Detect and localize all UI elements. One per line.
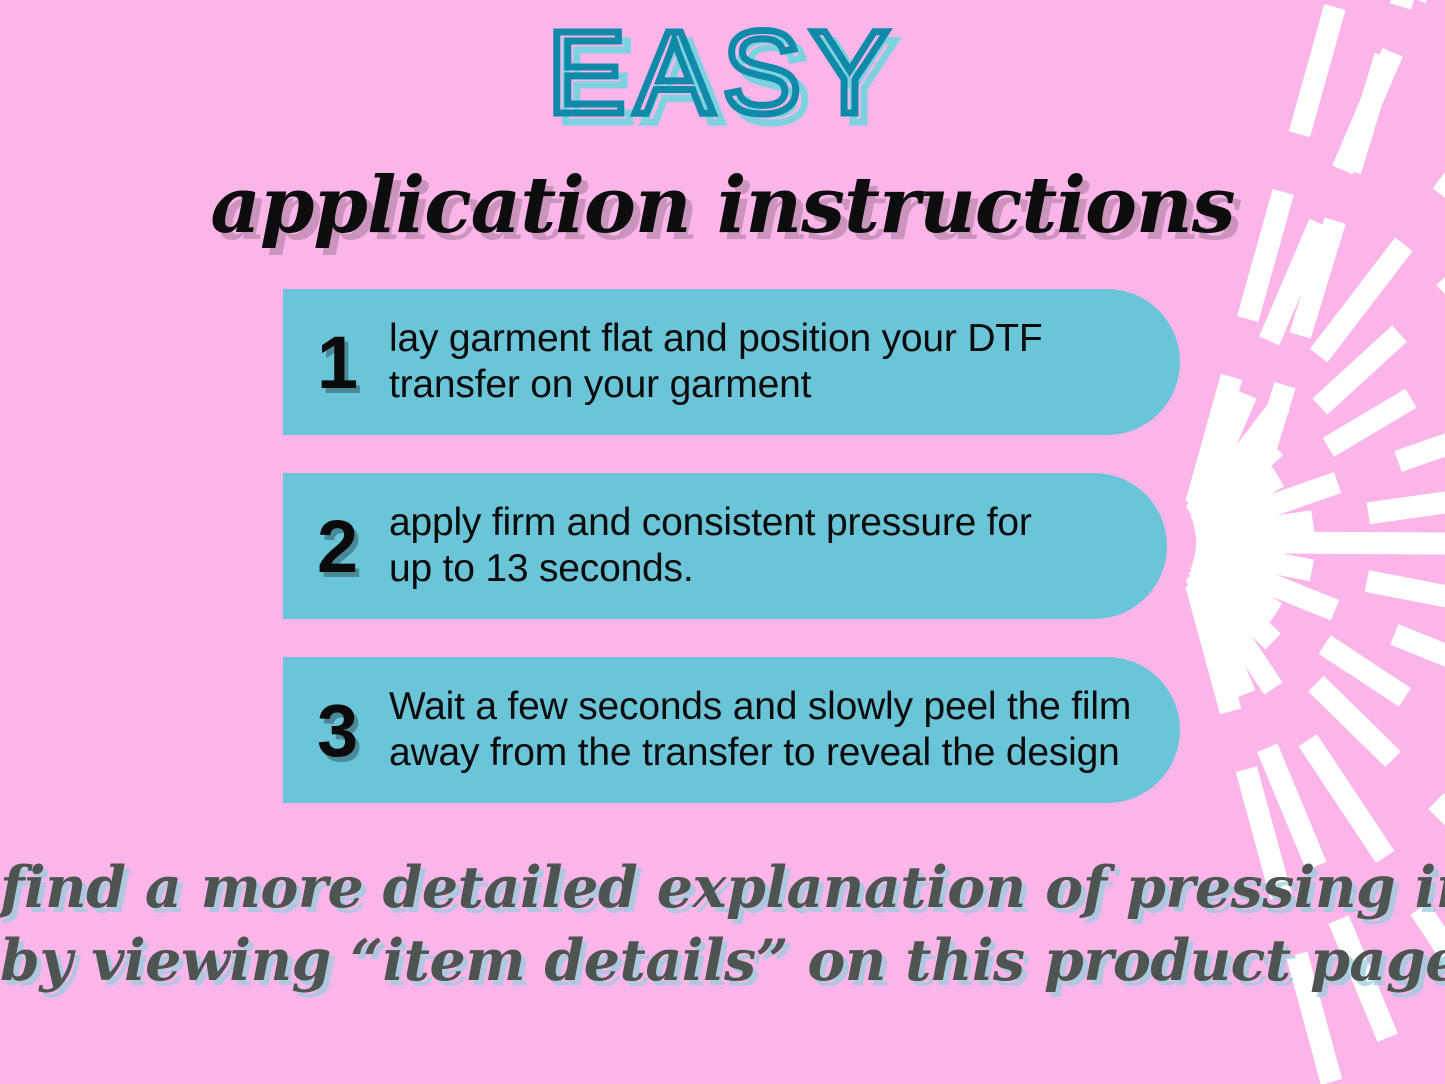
- step-text-1-line-2: transfer on your garment: [389, 362, 1140, 408]
- step-text-1-line-1: lay garment flat and position your DTF: [389, 316, 1140, 362]
- steps-list: 1 lay garment flat and position your DTF…: [283, 289, 1183, 841]
- step-number-1: 1: [317, 326, 389, 398]
- step-number-2: 2: [317, 510, 389, 582]
- footer-line-1: find a more detailed explanation of pres…: [0, 852, 1445, 925]
- step-text-2-line-2: up to 13 seconds.: [389, 546, 1127, 592]
- step-item-1: 1 lay garment flat and position your DTF…: [283, 289, 1180, 435]
- step-text-1: lay garment flat and position your DTF t…: [389, 316, 1140, 408]
- step-text-2: apply firm and consistent pressure for u…: [389, 500, 1127, 592]
- step-item-3: 3 Wait a few seconds and slowly peel the…: [283, 657, 1180, 803]
- subtitle-application-instructions: application instructions: [0, 160, 1445, 251]
- step-text-3: Wait a few seconds and slowly peel the f…: [389, 684, 1140, 776]
- footer-line-2: by viewing “item details” on this produc…: [0, 925, 1445, 998]
- step-text-3-line-2: away from the transfer to reveal the des…: [389, 730, 1140, 776]
- step-item-2: 2 apply firm and consistent pressure for…: [283, 473, 1167, 619]
- title-easy: EASY EASY: [0, 14, 1445, 132]
- footer-note: find a more detailed explanation of pres…: [0, 852, 1445, 998]
- step-text-2-line-1: apply firm and consistent pressure for: [389, 500, 1127, 546]
- step-text-3-line-1: Wait a few seconds and slowly peel the f…: [389, 684, 1140, 730]
- step-number-3: 3: [317, 694, 389, 766]
- title-easy-main: EASY: [547, 7, 898, 139]
- application-instructions-poster: EASY EASY application instructions 1 lay…: [0, 0, 1445, 1084]
